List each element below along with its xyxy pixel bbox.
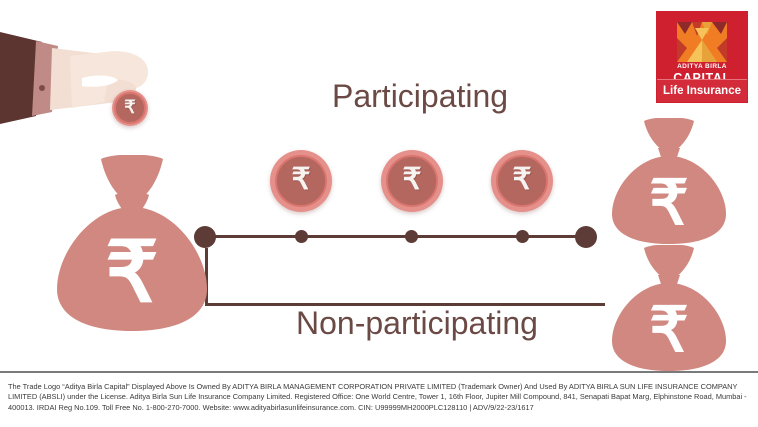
rupee-symbol: ₹ [291,165,310,195]
logo-mark-icon [677,22,727,62]
money-bag-icon-left: ₹ [55,155,210,335]
money-bag-icon-bottom-right: ₹ [610,245,728,373]
svg-text:₹: ₹ [649,169,688,238]
rupee-symbol: ₹ [512,165,531,195]
infographic-canvas: ₹ ADITYA BIRLA CAPITAL Life Insurance [0,0,758,427]
rupee-coin-icon-1: ₹ [270,150,332,212]
coin-inner-disc: ₹ [114,92,146,124]
footer-divider [0,371,758,373]
rupee-coin-icon-3: ₹ [491,150,553,212]
bracket-horizontal-segment [205,303,605,306]
rupee-coin-icon-in-hand: ₹ [112,90,148,126]
rupee-coin-icon-2: ₹ [381,150,443,212]
timeline-midpoint-1 [295,230,308,243]
coin-inner-disc: ₹ [496,155,548,207]
rupee-symbol: ₹ [124,98,135,116]
rupee-symbol: ₹ [402,165,421,195]
timeline-midpoint-2 [405,230,418,243]
title-participating: Participating [332,78,508,115]
timeline-endpoint-end [575,226,597,248]
aditya-birla-capital-logo: ADITYA BIRLA CAPITAL Life Insurance [657,12,747,102]
footer-disclaimer: The Trade Logo “Aditya Birla Capital” Di… [8,382,750,413]
timeline-axis [205,235,589,238]
logo-line-1: ADITYA BIRLA [677,63,727,70]
hand-dropping-coin-icon [0,20,175,145]
svg-text:₹: ₹ [649,296,688,365]
title-non-participating: Non-participating [296,305,538,342]
coin-inner-disc: ₹ [386,155,438,207]
timeline-midpoint-3 [516,230,529,243]
money-bag-icon-top-right: ₹ [610,118,728,246]
svg-text:₹: ₹ [105,225,158,319]
logo-strip-label: Life Insurance [657,79,747,102]
coin-inner-disc: ₹ [275,155,327,207]
